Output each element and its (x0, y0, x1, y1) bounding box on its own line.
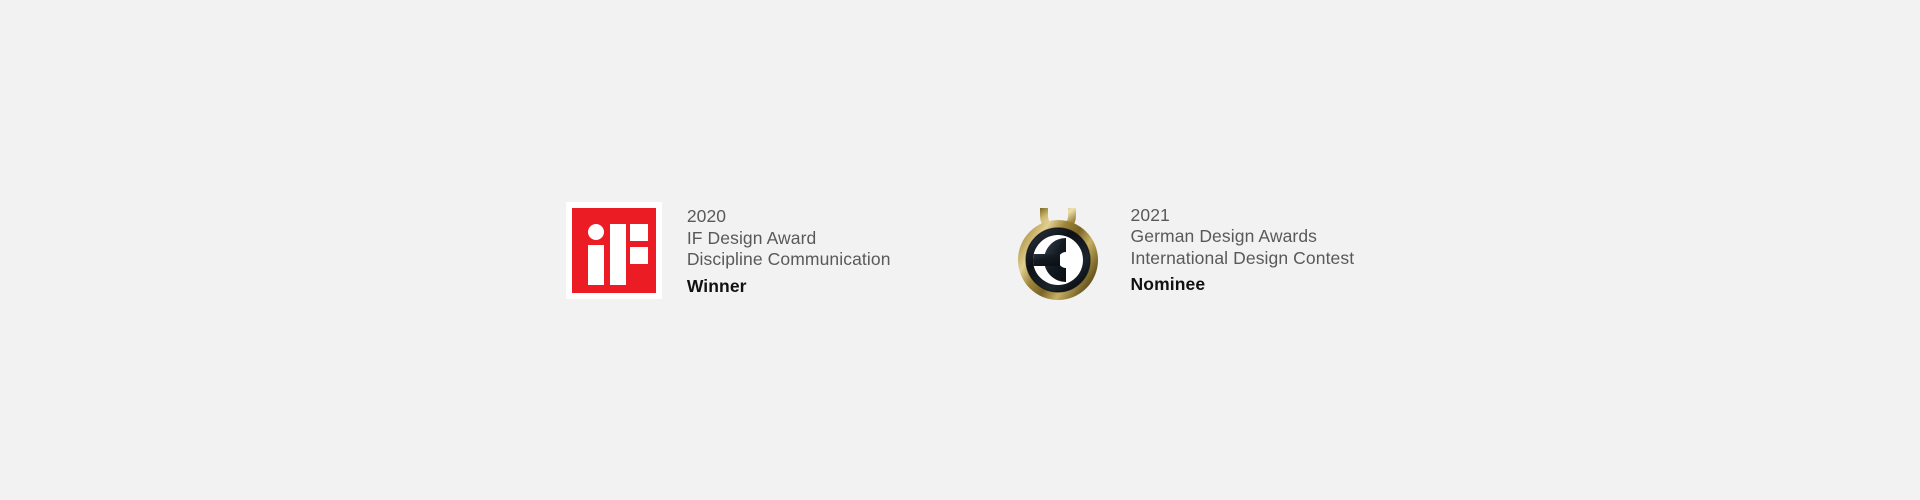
if-letter-f-upper-arm (630, 224, 648, 241)
gda-award-year: 2021 (1131, 205, 1355, 227)
if-letter-f-stem (610, 224, 626, 285)
gda-award-category: International Design Contest (1131, 248, 1355, 270)
if-award-category: Discipline Communication (687, 249, 891, 271)
award-german-design-awards: 2021 German Design Awards International … (1010, 200, 1355, 301)
if-letter-i-stem (588, 245, 604, 285)
if-logo-red-field (572, 208, 656, 293)
if-letter-i-dot (588, 224, 604, 240)
medal-icon (1010, 198, 1106, 301)
if-award-name: IF Design Award (687, 228, 891, 250)
if-award-year: 2020 (687, 206, 891, 228)
gda-award-text-block: 2021 German Design Awards International … (1106, 200, 1355, 296)
if-award-text-block: 2020 IF Design Award Discipline Communic… (662, 201, 891, 297)
awards-strip: 2020 IF Design Award Discipline Communic… (0, 0, 1920, 500)
if-design-award-logo (566, 202, 662, 299)
if-award-result: Winner (687, 276, 891, 298)
award-if-design-award: 2020 IF Design Award Discipline Communic… (566, 201, 891, 299)
if-letter-f-lower-arm (630, 247, 648, 264)
gda-award-name: German Design Awards (1131, 226, 1355, 248)
german-design-awards-medal (1010, 198, 1106, 301)
gda-award-result: Nominee (1131, 274, 1355, 296)
